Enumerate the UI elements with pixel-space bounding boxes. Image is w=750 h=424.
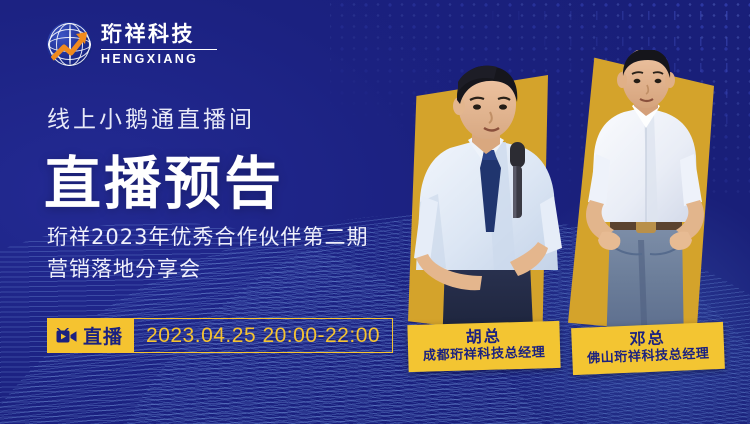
logo-divider bbox=[101, 49, 217, 51]
speaker-nameplate-2: 邓总 佛山珩祥科技总经理 bbox=[571, 322, 725, 375]
video-camera-icon bbox=[56, 328, 77, 344]
speaker-role-2: 佛山珩祥科技总经理 bbox=[582, 347, 715, 369]
poster-subtitle: 线上小鹅通直播间 bbox=[47, 100, 255, 134]
live-stream-promo-poster: 胡总 成都珩祥科技总经理 邓总 佛山珩祥科技总经理 珩祥科技 HENGXIANG… bbox=[0, 0, 750, 424]
live-tag: 直播 bbox=[47, 318, 134, 353]
arrow-up-icon bbox=[51, 30, 91, 62]
live-schedule-badge: 直播 2023.04.25 20:00-22:00 bbox=[47, 318, 393, 353]
live-tag-label: 直播 bbox=[83, 322, 123, 349]
logo-name-cn: 珩祥科技 bbox=[101, 24, 217, 45]
speaker-nameplate-1: 胡总 成都珩祥科技总经理 bbox=[407, 321, 560, 372]
speaker-photo-1 bbox=[398, 62, 574, 350]
logo-name-en: HENGXIANG bbox=[101, 53, 217, 66]
speaker-photo-2 bbox=[566, 50, 724, 350]
description-line-1: 珩祥2023年优秀合作伙伴第二期 bbox=[47, 222, 368, 254]
brand-logo: 珩祥科技 HENGXIANG bbox=[47, 22, 217, 67]
poster-description: 珩祥2023年优秀合作伙伴第二期 营销落地分享会 bbox=[47, 222, 368, 286]
live-datetime: 2023.04.25 20:00-22:00 bbox=[134, 318, 393, 353]
globe-arrow-logo-icon bbox=[47, 22, 92, 67]
speaker-role-1: 成都珩祥科技总经理 bbox=[418, 346, 550, 366]
description-line-2: 营销落地分享会 bbox=[47, 254, 368, 286]
poster-headline: 直播预告 bbox=[44, 138, 284, 220]
